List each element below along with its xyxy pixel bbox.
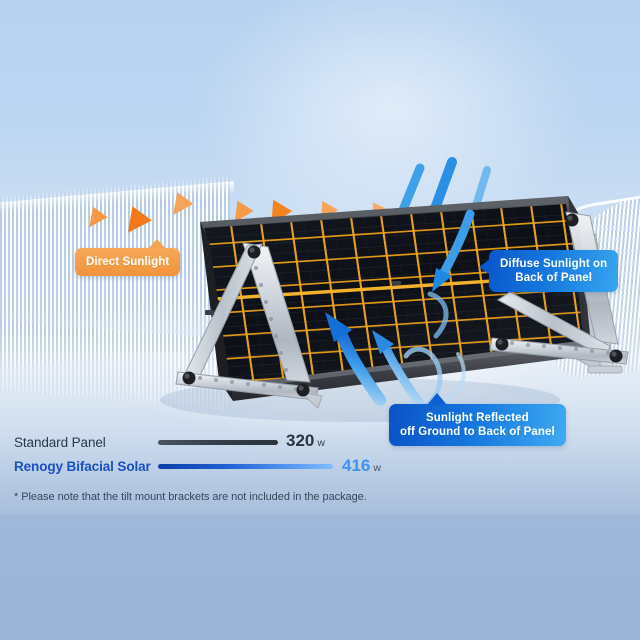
- comparison-label-standard: Standard Panel: [14, 435, 158, 450]
- comparison-row-standard: Standard Panel 320w: [14, 430, 414, 454]
- callout-direct-sunlight-label: Direct Sunlight: [86, 256, 169, 268]
- callout-tail-icon: [479, 259, 490, 275]
- comparison-value-renogy: 416w: [342, 456, 381, 476]
- power-comparison-chart: Standard Panel 320w Renogy Bifacial Sola…: [14, 430, 414, 478]
- comparison-row-renogy: Renogy Bifacial Solar 416w: [14, 454, 414, 478]
- callout-reflected-sunlight[interactable]: Sunlight Reflected off Ground to Back of…: [389, 404, 566, 446]
- comparison-bar-renogy: [158, 464, 333, 469]
- comparison-value-standard: 320w: [286, 431, 325, 451]
- reflected-sunlight-arrow-main: [325, 312, 380, 400]
- callout-tail-icon: [427, 393, 447, 405]
- callout-reflected-line-2: off Ground to Back of Panel: [400, 425, 555, 439]
- comparison-value-standard-number: 320: [286, 431, 314, 450]
- product-infographic: Direct Sunlight Diffuse Sunlight on Back…: [0, 0, 640, 640]
- callout-tail-icon: [148, 239, 166, 249]
- footnote-text: * Please note that the tilt mount bracke…: [14, 491, 367, 503]
- callout-diffuse-sunlight[interactable]: Diffuse Sunlight on Back of Panel: [489, 250, 618, 292]
- callout-diffuse-line-1: Diffuse Sunlight on: [500, 257, 607, 271]
- light-ray-arrows-front: [0, 0, 640, 640]
- callout-diffuse-line-2: Back of Panel: [500, 271, 607, 285]
- comparison-unit-standard: w: [317, 437, 325, 449]
- diffuse-arrow-underside: [432, 214, 470, 292]
- comparison-bar-standard: [158, 440, 278, 445]
- comparison-value-renogy-number: 416: [342, 456, 370, 475]
- callout-reflected-line-1: Sunlight Reflected: [400, 411, 555, 425]
- comparison-label-renogy: Renogy Bifacial Solar: [14, 459, 158, 474]
- callout-direct-sunlight[interactable]: Direct Sunlight: [75, 248, 180, 276]
- comparison-unit-renogy: w: [373, 462, 381, 474]
